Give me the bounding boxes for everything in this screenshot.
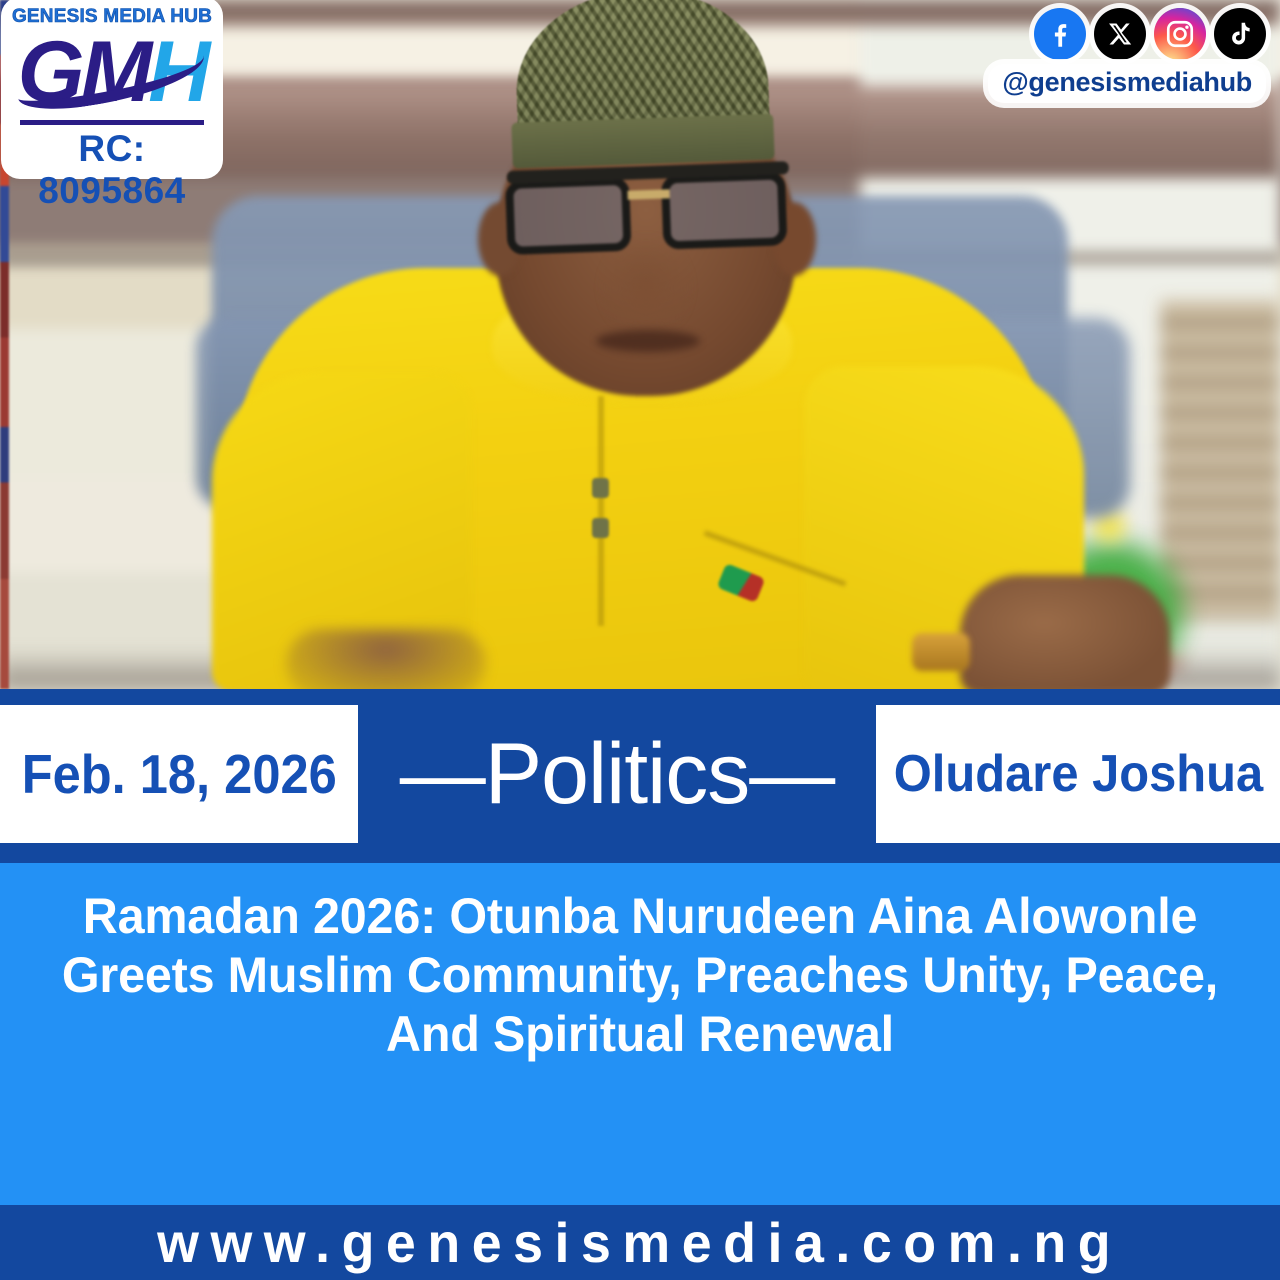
subject-hand-left xyxy=(286,629,486,689)
website-url: www.genesismedia.com.ng xyxy=(157,1210,1122,1275)
subject-button-lower xyxy=(592,518,609,538)
website-footer[interactable]: www.genesismedia.com.ng xyxy=(0,1205,1280,1280)
category-box[interactable]: —Politics— xyxy=(358,705,876,843)
facebook-icon[interactable] xyxy=(1034,8,1086,60)
author-name: Oludare Joshua xyxy=(893,744,1262,804)
x-icon[interactable] xyxy=(1094,8,1146,60)
publish-date: Feb. 18, 2026 xyxy=(21,742,336,806)
headline-area: Ramadan 2026: Otunba Nurudeen Aina Alowo… xyxy=(0,863,1280,1205)
category-label: —Politics— xyxy=(400,725,834,824)
sunglasses-lens-left xyxy=(505,177,632,255)
subject-hand-right xyxy=(960,575,1170,689)
logo-divider xyxy=(20,120,204,125)
sunglasses-lens-right xyxy=(661,171,788,249)
meta-banner: Feb. 18, 2026 —Politics— Oludare Joshua xyxy=(0,689,1280,863)
news-graphic-card: GENESIS MEDIA HUB GMH RC: 8095864 xyxy=(0,0,1280,1280)
social-icon-row xyxy=(1034,8,1266,60)
sunglasses-bridge xyxy=(627,189,669,199)
sunglasses-icon xyxy=(490,153,809,260)
subject-button-upper xyxy=(592,478,609,498)
social-handle[interactable]: @genesismediahub xyxy=(988,64,1266,103)
logo-registration-number: RC: 8095864 xyxy=(4,128,220,212)
author-box: Oludare Joshua xyxy=(876,705,1280,843)
social-media-block: @genesismediahub xyxy=(988,8,1266,103)
article-headline: Ramadan 2026: Otunba Nurudeen Aina Alowo… xyxy=(48,887,1231,1064)
subject-placket xyxy=(598,396,604,626)
publish-date-box: Feb. 18, 2026 xyxy=(0,705,358,843)
subject-wristwatch xyxy=(912,633,970,671)
tiktok-icon[interactable] xyxy=(1214,8,1266,60)
brand-logo[interactable]: GENESIS MEDIA HUB GMH RC: 8095864 xyxy=(4,0,220,176)
subject-mouth xyxy=(596,330,700,352)
instagram-icon[interactable] xyxy=(1154,8,1206,60)
